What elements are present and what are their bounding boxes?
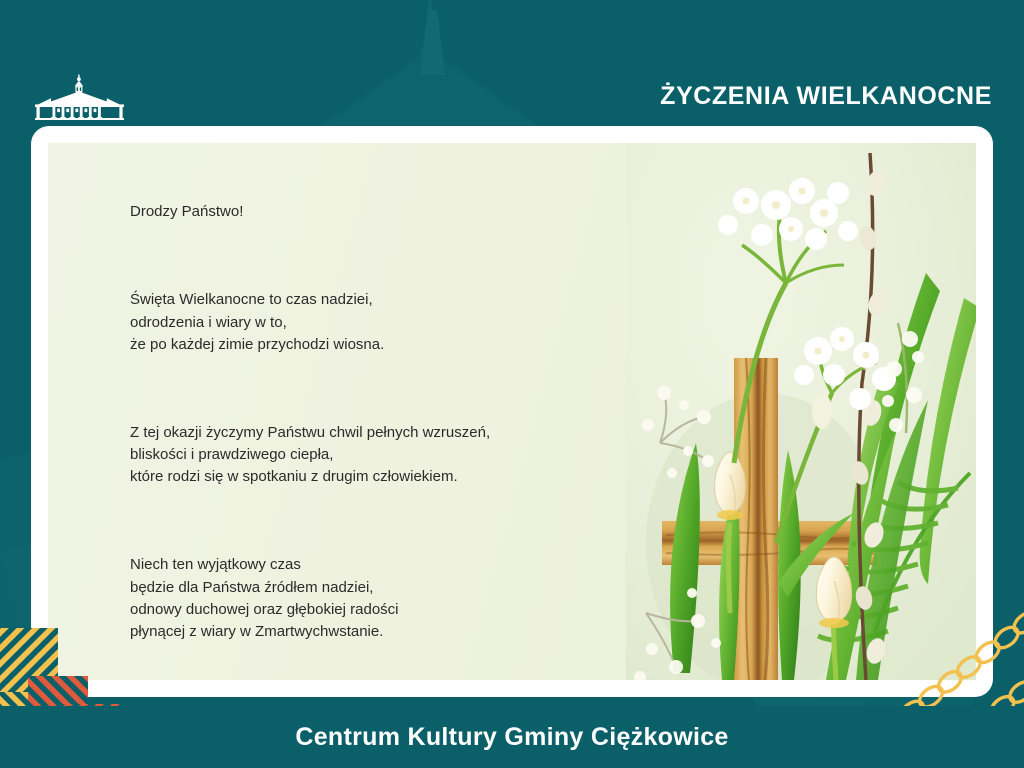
poster-canvas: ŻYCZENIA WIELKANOCNE [0, 0, 1024, 768]
footer-title: Centrum Kultury Gminy Ciężkowice [0, 706, 1024, 768]
page-title: ŻYCZENIA WIELKANOCNE [660, 82, 992, 111]
poster-header: ŻYCZENIA WIELKANOCNE [0, 0, 1024, 128]
greeting-card-panel: Drodzy Państwo! Święta Wielkanocne to cz… [48, 143, 976, 680]
greeting-letter: Drodzy Państwo! Święta Wielkanocne to cz… [130, 157, 600, 680]
poster-footer: Centrum Kultury Gminy Ciężkowice [0, 706, 1024, 768]
letter-paragraph-4: Niech ten wyjątkowy czas będzie dla Pańs… [130, 554, 600, 642]
greeting-card: Drodzy Państwo! Święta Wielkanocne to cz… [31, 126, 993, 697]
letter-paragraph-3: Z tej okazji życzymy Państwu chwil pełny… [130, 422, 600, 488]
easter-cross-photo [626, 143, 976, 680]
manor-crest-icon [27, 74, 133, 122]
letter-paragraph-2: Święta Wielkanocne to czas nadziei, odro… [130, 289, 600, 355]
letter-paragraph-1: Drodzy Państwo! [130, 201, 600, 223]
